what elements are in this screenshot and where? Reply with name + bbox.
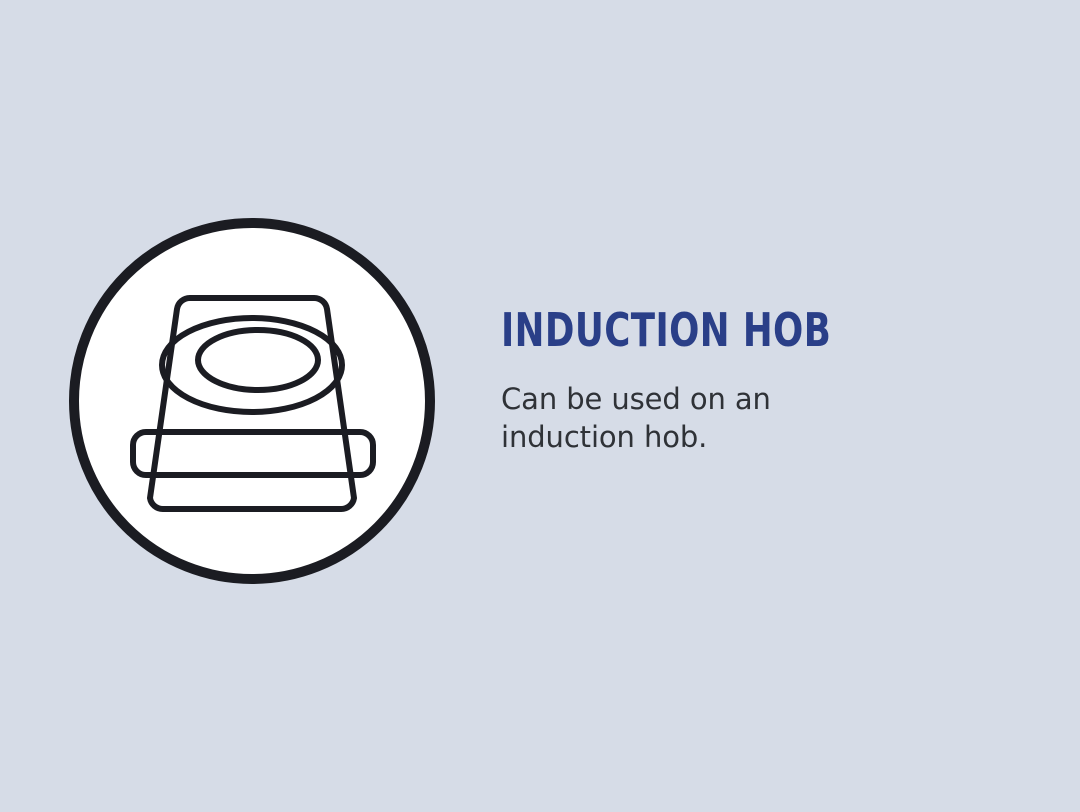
- induction-hob-icon: [64, 213, 440, 589]
- badge-circle-shape: [74, 223, 430, 579]
- feature-text-block: INDUCTION HOB Can be used on an inductio…: [501, 306, 971, 456]
- feature-description: Can be used on an induction hob.: [501, 354, 781, 456]
- induction-hob-feature-slide: INDUCTION HOB Can be used on an inductio…: [0, 0, 1080, 812]
- page-title: INDUCTION HOB: [501, 306, 905, 354]
